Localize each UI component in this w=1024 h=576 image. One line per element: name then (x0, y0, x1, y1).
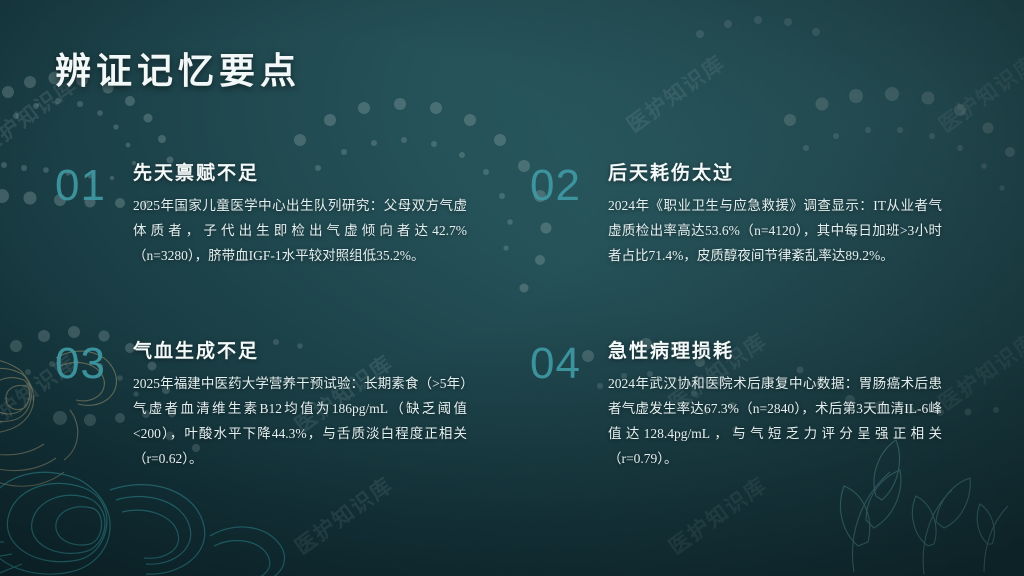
point-heading-03: 气血生成不足 (133, 336, 467, 363)
slide-canvas: 医护知识库 医护知识库 医护知识库 医护知识库 医护知识库 医护知识库 医护知识… (0, 0, 1024, 576)
point-body-02: 后天耗伤太过 2024年《职业卫生与应急救援》调查显示：IT从业者气虚质检出率高… (608, 158, 942, 269)
point-paragraph-02: 2024年《职业卫生与应急救援》调查显示：IT从业者气虚质检出率高达53.6%（… (608, 194, 942, 269)
point-heading-01: 先天禀赋不足 (133, 158, 467, 185)
point-paragraph-01: 2025年国家儿童医学中心出生队列研究：父母双方气虚体质者，子代出生即检出气虚倾… (133, 194, 467, 269)
point-number-01: 01 (55, 164, 106, 208)
watermark-text: 医护知识库 (932, 47, 1024, 139)
point-block-03: 03 气血生成不足 2025年福建中医药大学营养干预试验：长期素食（>5年）气虚… (55, 336, 467, 472)
point-heading-02: 后天耗伤太过 (608, 158, 942, 185)
point-body-01: 先天禀赋不足 2025年国家儿童医学中心出生队列研究：父母双方气虚体质者，子代出… (133, 158, 467, 269)
point-block-04: 04 急性病理损耗 2024年武汉协和医院术后康复中心数据：胃肠癌术后患者气虚发… (530, 336, 942, 472)
point-block-01: 01 先天禀赋不足 2025年国家儿童医学中心出生队列研究：父母双方气虚体质者，… (55, 158, 467, 269)
page-title: 辨证记忆要点 (55, 42, 301, 94)
point-heading-04: 急性病理损耗 (608, 336, 942, 363)
watermark-text: 医护知识库 (662, 469, 773, 561)
point-paragraph-04: 2024年武汉协和医院术后康复中心数据：胃肠癌术后患者气虚发生率达67.3%（n… (608, 372, 942, 472)
point-number-03: 03 (55, 342, 106, 386)
watermark-text: 医护知识库 (288, 469, 399, 561)
point-number-02: 02 (530, 164, 581, 208)
point-paragraph-03: 2025年福建中医药大学营养干预试验：长期素食（>5年）气虚者血清维生素B12均… (133, 372, 467, 472)
point-block-02: 02 后天耗伤太过 2024年《职业卫生与应急救援》调查显示：IT从业者气虚质检… (530, 158, 942, 269)
watermark-text: 医护知识库 (620, 47, 731, 139)
point-number-04: 04 (530, 342, 581, 386)
point-body-03: 气血生成不足 2025年福建中医药大学营养干预试验：长期素食（>5年）气虚者血清… (133, 336, 467, 472)
watermark-text: 医护知识库 (932, 325, 1024, 417)
point-body-04: 急性病理损耗 2024年武汉协和医院术后康复中心数据：胃肠癌术后患者气虚发生率达… (608, 336, 942, 472)
